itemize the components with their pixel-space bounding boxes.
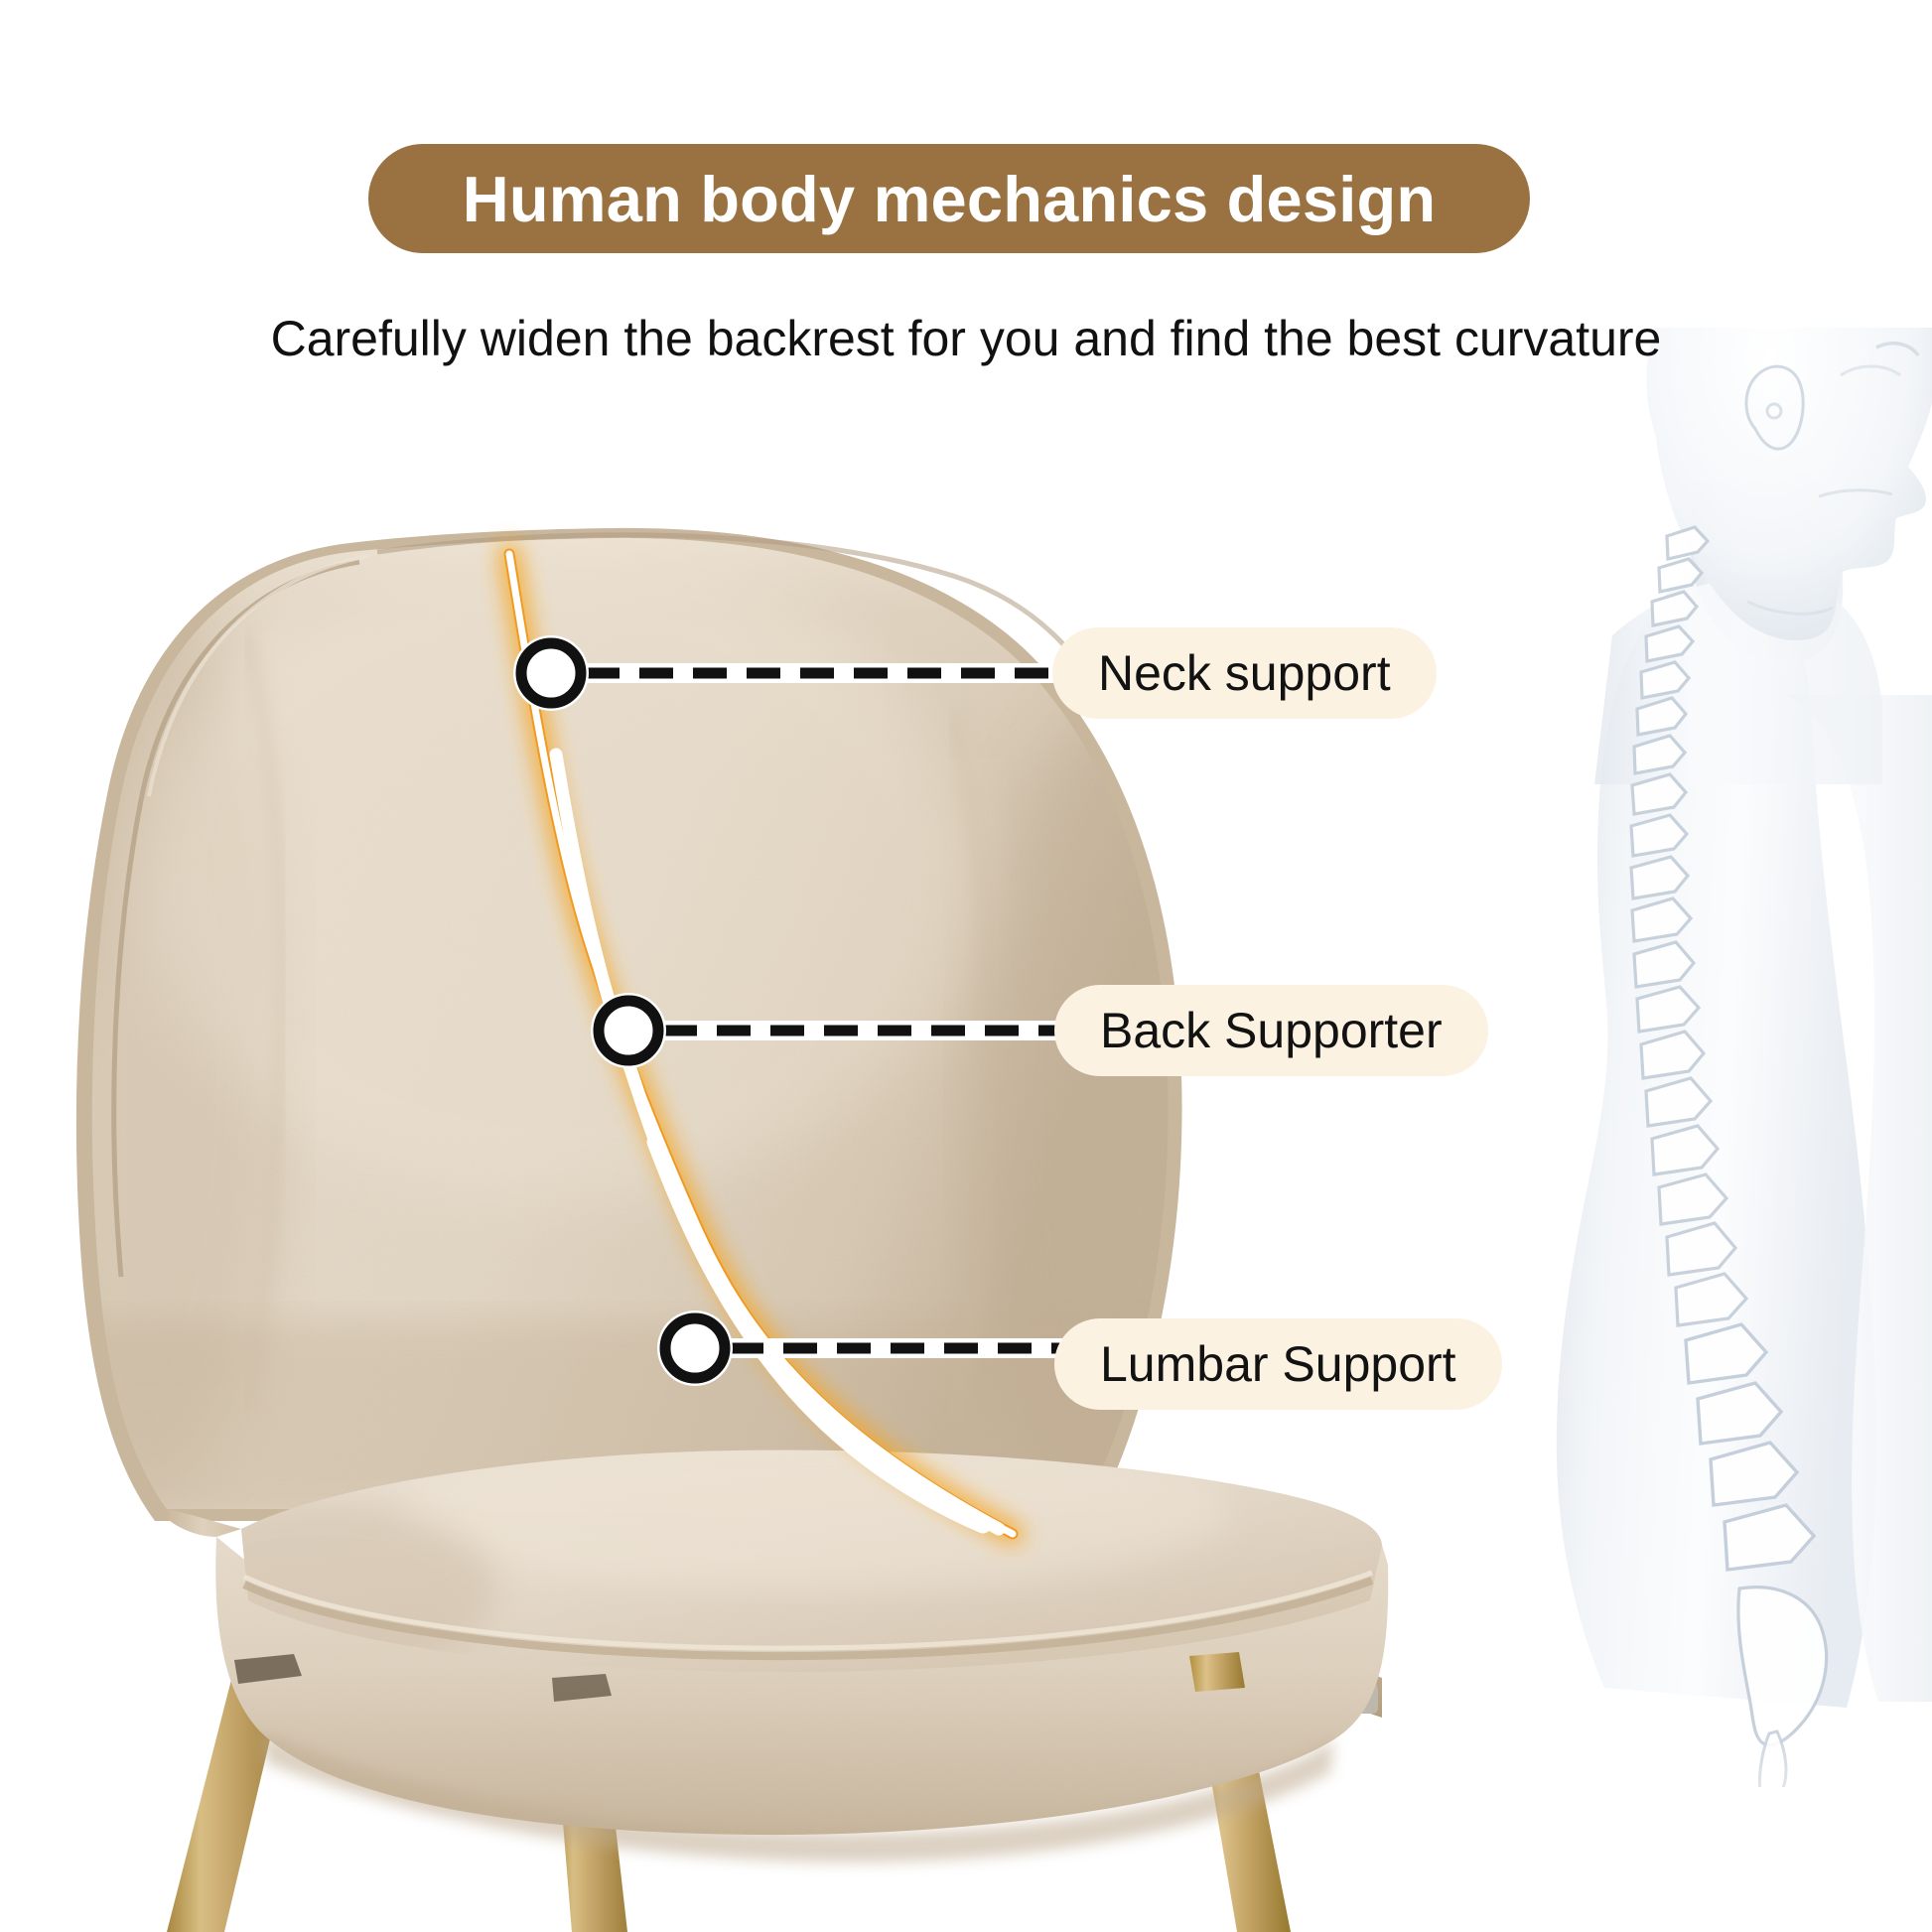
anatomy-figure — [1489, 212, 1932, 1876]
title-badge: Human body mechanics design — [368, 144, 1530, 253]
marker-dot-neck[interactable] — [513, 635, 589, 711]
infographic-canvas: Human body mechanics design Carefully wi… — [0, 0, 1932, 1932]
callout-label-lumbar: Lumbar Support — [1100, 1339, 1456, 1389]
callout-label-back: Back Supporter — [1100, 1006, 1443, 1055]
callout-pill-back[interactable]: Back Supporter — [1054, 985, 1488, 1076]
chair-legs-front — [1189, 1652, 1245, 1692]
marker-dot-lumbar[interactable] — [657, 1311, 733, 1386]
marker-dot-back[interactable] — [591, 993, 666, 1068]
callout-pill-neck[interactable]: Neck support — [1052, 627, 1437, 719]
artwork-layer — [0, 0, 1932, 1932]
page-title: Human body mechanics design — [463, 167, 1437, 231]
callout-label-neck: Neck support — [1098, 648, 1391, 698]
callout-pill-lumbar[interactable]: Lumbar Support — [1054, 1318, 1502, 1410]
page-subtitle: Carefully widen the backrest for you and… — [0, 310, 1932, 367]
